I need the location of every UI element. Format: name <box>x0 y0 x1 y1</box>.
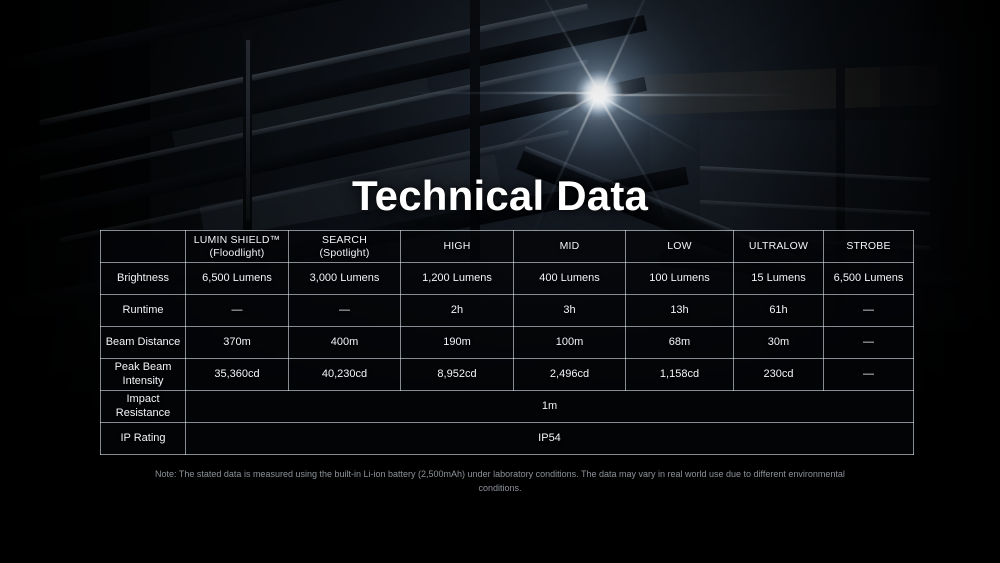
table-row: Beam Distance 370m 400m 190m 100m 68m 30… <box>101 327 914 359</box>
table-row: IP Rating IP54 <box>101 423 914 455</box>
cell-peak-beam-mid: 2,496cd <box>514 359 626 391</box>
row-label-line2: Resistance <box>116 407 170 419</box>
cell-peak-beam-search: 40,230cd <box>289 359 401 391</box>
column-header-lumin-shield: LUMIN SHIELD™ (Floodlight) <box>186 231 289 263</box>
cell-beam-distance-search: 400m <box>289 327 401 359</box>
column-header-label: ULTRALOW <box>749 240 808 252</box>
column-header-sublabel: (Floodlight) <box>189 247 285 260</box>
cell-runtime-low: 13h <box>626 295 734 327</box>
cell-peak-beam-low: 1,158cd <box>626 359 734 391</box>
cell-beam-distance-low: 68m <box>626 327 734 359</box>
row-label-ip-rating: IP Rating <box>101 423 186 455</box>
row-label-runtime: Runtime <box>101 295 186 327</box>
cell-impact-resistance-value: 1m <box>186 391 914 423</box>
cell-brightness-search: 3,000 Lumens <box>289 263 401 295</box>
table-row: Runtime — — 2h 3h 13h 61h — <box>101 295 914 327</box>
cell-runtime-search: — <box>289 295 401 327</box>
column-header-label: LOW <box>667 240 692 252</box>
cell-runtime-high: 2h <box>401 295 514 327</box>
cell-brightness-strobe: 6,500 Lumens <box>824 263 914 295</box>
row-label-peak-beam-intensity: Peak Beam Intensity <box>101 359 186 391</box>
column-header-low: LOW <box>626 231 734 263</box>
cell-brightness-lumin-shield: 6,500 Lumens <box>186 263 289 295</box>
row-label-line1: Peak Beam <box>115 361 172 373</box>
row-label-line1: Impact <box>126 393 159 405</box>
column-header-high: HIGH <box>401 231 514 263</box>
cell-beam-distance-lumin-shield: 370m <box>186 327 289 359</box>
table-row: Impact Resistance 1m <box>101 391 914 423</box>
cell-peak-beam-lumin-shield: 35,360cd <box>186 359 289 391</box>
table-row: Peak Beam Intensity 35,360cd 40,230cd 8,… <box>101 359 914 391</box>
column-header-strobe: STROBE <box>824 231 914 263</box>
cell-runtime-lumin-shield: — <box>186 295 289 327</box>
page-title: Technical Data <box>0 172 1000 220</box>
column-header-ultralow: ULTRALOW <box>734 231 824 263</box>
row-label-impact-resistance: Impact Resistance <box>101 391 186 423</box>
cell-brightness-mid: 400 Lumens <box>514 263 626 295</box>
column-header-label: LUMIN SHIELD™ <box>194 234 281 246</box>
cell-beam-distance-strobe: — <box>824 327 914 359</box>
cell-runtime-ultralow: 61h <box>734 295 824 327</box>
cell-brightness-ultralow: 15 Lumens <box>734 263 824 295</box>
cell-runtime-strobe: — <box>824 295 914 327</box>
table-corner-cell <box>101 231 186 263</box>
column-header-mid: MID <box>514 231 626 263</box>
column-header-label: STROBE <box>846 240 890 252</box>
cell-ip-rating-value: IP54 <box>186 423 914 455</box>
column-header-label: SEARCH <box>322 234 367 246</box>
row-label-brightness: Brightness <box>101 263 186 295</box>
cell-brightness-low: 100 Lumens <box>626 263 734 295</box>
cell-peak-beam-ultralow: 230cd <box>734 359 824 391</box>
cell-beam-distance-mid: 100m <box>514 327 626 359</box>
technical-data-table: LUMIN SHIELD™ (Floodlight) SEARCH (Spotl… <box>100 230 914 455</box>
footnote-text: Note: The stated data is measured using … <box>150 468 850 496</box>
row-label-beam-distance: Beam Distance <box>101 327 186 359</box>
column-header-label: MID <box>560 240 580 252</box>
column-header-sublabel: (Spotlight) <box>292 247 397 260</box>
table-header-row: LUMIN SHIELD™ (Floodlight) SEARCH (Spotl… <box>101 231 914 263</box>
cell-peak-beam-strobe: — <box>824 359 914 391</box>
row-label-line2: Intensity <box>123 375 164 387</box>
cell-runtime-mid: 3h <box>514 295 626 327</box>
table-row: Brightness 6,500 Lumens 3,000 Lumens 1,2… <box>101 263 914 295</box>
cell-beam-distance-high: 190m <box>401 327 514 359</box>
cell-peak-beam-high: 8,952cd <box>401 359 514 391</box>
column-header-label: HIGH <box>443 240 470 252</box>
column-header-search: SEARCH (Spotlight) <box>289 231 401 263</box>
cell-brightness-high: 1,200 Lumens <box>401 263 514 295</box>
cell-beam-distance-ultralow: 30m <box>734 327 824 359</box>
